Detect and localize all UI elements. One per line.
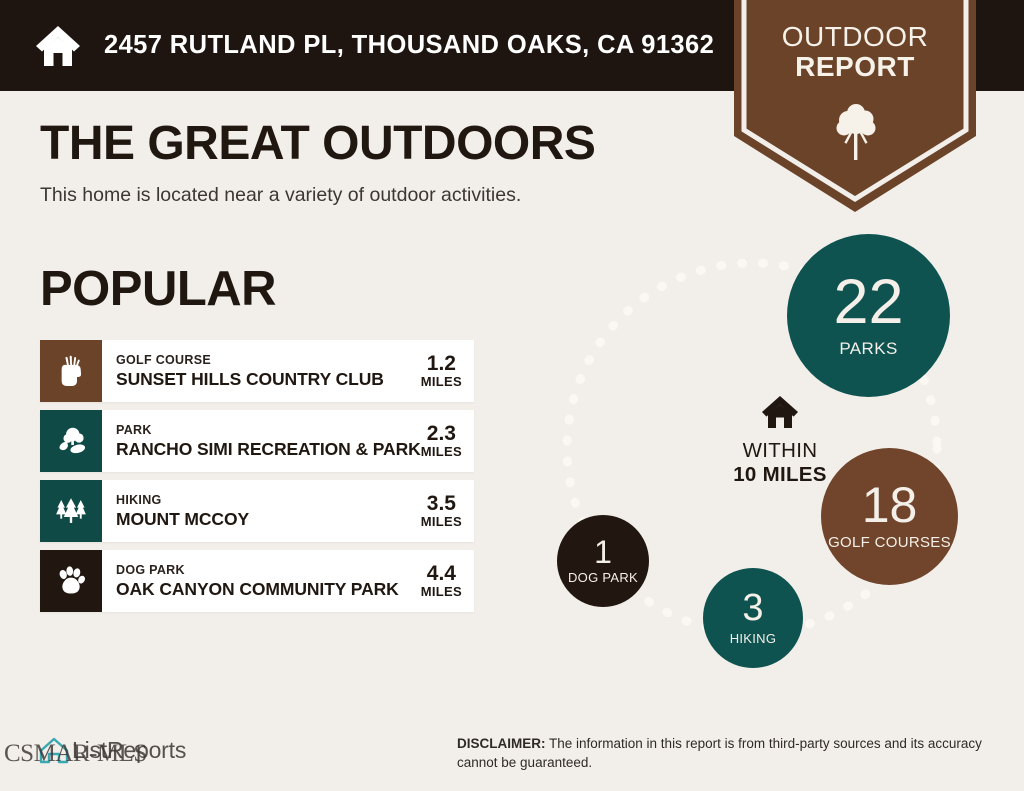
distance-value: 1.2 — [421, 353, 462, 375]
list-item-name: RANCHO SIMI RECREATION & PARK — [116, 439, 415, 459]
list-item-texts: DOG PARK OAK CANYON COMMUNITY PARK — [116, 563, 399, 599]
list-item-category: PARK — [116, 423, 415, 439]
distance-value: 3.5 — [421, 493, 462, 515]
list-item-tile — [40, 410, 102, 472]
distance-value: 4.4 — [421, 563, 462, 585]
bubble-parks[interactable]: 22 PARKS — [787, 234, 950, 397]
list-item-distance: 4.4 MILES — [415, 563, 462, 599]
list-item-body: GOLF COURSE SUNSET HILLS COUNTRY CLUB 1.… — [102, 340, 474, 402]
list-item-body: DOG PARK OAK CANYON COMMUNITY PARK 4.4 M… — [102, 550, 474, 612]
list-item-texts: HIKING MOUNT MCCOY — [116, 493, 249, 529]
list-item-category: GOLF COURSE — [116, 353, 384, 369]
list-item-distance: 3.5 MILES — [415, 493, 462, 529]
badge-line-1: OUTDOOR — [734, 22, 976, 52]
distance-value: 2.3 — [421, 423, 462, 445]
center-line-1: WITHIN — [680, 439, 880, 463]
distance-unit: MILES — [421, 585, 462, 599]
list-item-tile — [40, 550, 102, 612]
list-item-body: PARK RANCHO SIMI RECREATION & PARK 2.3 M… — [102, 410, 474, 472]
outdoor-report-badge: OUTDOOR REPORT — [734, 0, 976, 212]
list-item[interactable]: DOG PARK OAK CANYON COMMUNITY PARK 4.4 M… — [40, 550, 474, 612]
center-line-2: 10 MILES — [680, 463, 880, 487]
list-item-category: DOG PARK — [116, 563, 399, 579]
tree-icon — [835, 104, 877, 162]
list-item-tile — [40, 480, 102, 542]
disclaimer-label: DISCLAIMER: — [457, 736, 546, 751]
park-tree-icon — [55, 427, 87, 456]
list-item-distance: 1.2 MILES — [415, 353, 462, 389]
golf-bag-icon — [56, 355, 86, 387]
list-item-body: HIKING MOUNT MCCOY 3.5 MILES — [102, 480, 474, 542]
list-item-texts: GOLF COURSE SUNSET HILLS COUNTRY CLUB — [116, 353, 384, 389]
bubble-value: 1 — [594, 537, 612, 567]
bubble-value: 22 — [833, 273, 903, 333]
amenities-bubble-chart: 22 PARKS 18 GOLF COURSES 3 HIKING 1 DOG … — [540, 230, 1010, 670]
bubble-label: HIKING — [730, 632, 777, 646]
bubble-value: 3 — [742, 590, 763, 626]
list-item-texts: PARK RANCHO SIMI RECREATION & PARK — [116, 423, 415, 459]
pine-trees-icon — [54, 498, 88, 524]
distance-unit: MILES — [421, 375, 462, 389]
list-item-name: OAK CANYON COMMUNITY PARK — [116, 579, 399, 599]
mls-watermark: CSMAR-MLS — [4, 740, 147, 768]
home-icon — [761, 395, 799, 429]
diagram-center-label: WITHIN 10 MILES — [680, 395, 880, 487]
list-item-name: SUNSET HILLS COUNTRY CLUB — [116, 369, 384, 389]
disclaimer: DISCLAIMER: The information in this repo… — [457, 735, 987, 772]
list-item-name: MOUNT MCCOY — [116, 509, 249, 529]
list-item[interactable]: GOLF COURSE SUNSET HILLS COUNTRY CLUB 1.… — [40, 340, 474, 402]
list-item[interactable]: PARK RANCHO SIMI RECREATION & PARK 2.3 M… — [40, 410, 474, 472]
list-item-tile — [40, 340, 102, 402]
badge-line-2: REPORT — [734, 52, 976, 82]
page-subtitle: This home is located near a variety of o… — [40, 184, 595, 207]
bubble-dog-park[interactable]: 1 DOG PARK — [557, 515, 649, 607]
distance-unit: MILES — [421, 445, 462, 459]
list-item-category: HIKING — [116, 493, 249, 509]
badge-title: OUTDOOR REPORT — [734, 22, 976, 82]
popular-list: GOLF COURSE SUNSET HILLS COUNTRY CLUB 1.… — [40, 340, 474, 620]
home-icon — [34, 24, 82, 68]
bubble-label: DOG PARK — [568, 571, 638, 585]
page-title: THE GREAT OUTDOORS — [40, 120, 595, 168]
title-block: THE GREAT OUTDOORS This home is located … — [40, 120, 595, 207]
bubble-label: GOLF COURSES — [828, 535, 951, 551]
paw-print-icon — [56, 566, 86, 596]
property-address: 2457 RUTLAND PL, THOUSAND OAKS, CA 91362 — [104, 31, 714, 60]
list-item[interactable]: HIKING MOUNT MCCOY 3.5 MILES — [40, 480, 474, 542]
list-item-distance: 2.3 MILES — [415, 423, 462, 459]
distance-unit: MILES — [421, 515, 462, 529]
bubble-label: PARKS — [839, 340, 897, 358]
popular-heading: POPULAR — [40, 265, 276, 314]
bubble-value: 18 — [862, 482, 918, 530]
bubble-hiking[interactable]: 3 HIKING — [703, 568, 803, 668]
outdoor-report-page: 2457 RUTLAND PL, THOUSAND OAKS, CA 91362… — [0, 0, 1024, 791]
